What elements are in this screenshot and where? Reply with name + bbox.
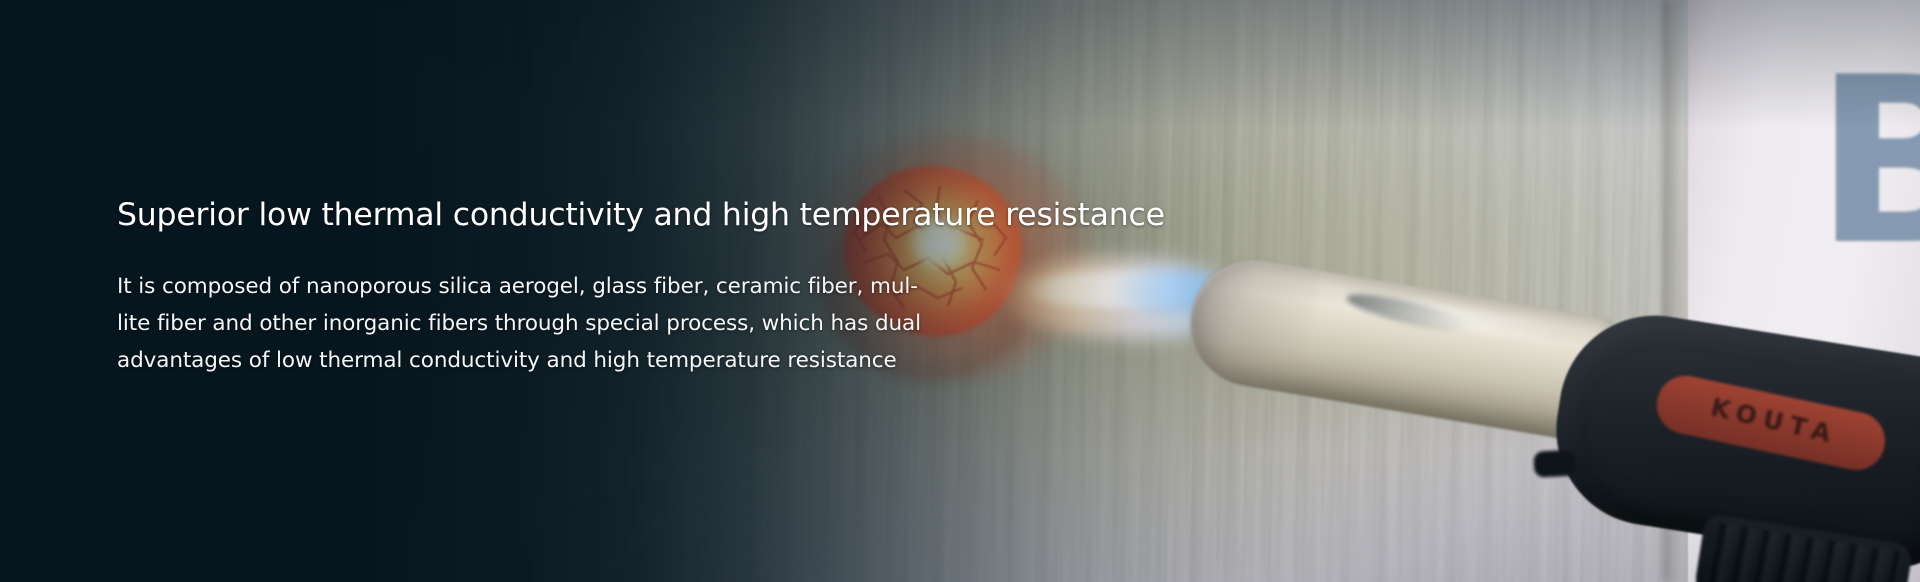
hero-banner: B [0,0,1920,582]
banner-body-line-2: lite fiber and other inorganic fibers th… [117,306,997,343]
banner-body-line-1: It is composed of nanoporous silica aero… [117,269,997,306]
banner-copy: Superior low thermal conductivity and hi… [117,196,997,380]
banner-body-line-3: advantages of low thermal conductivity a… [117,343,997,380]
banner-headline: Superior low thermal conductivity and hi… [117,196,997,234]
banner-body: It is composed of nanoporous silica aero… [117,269,997,380]
